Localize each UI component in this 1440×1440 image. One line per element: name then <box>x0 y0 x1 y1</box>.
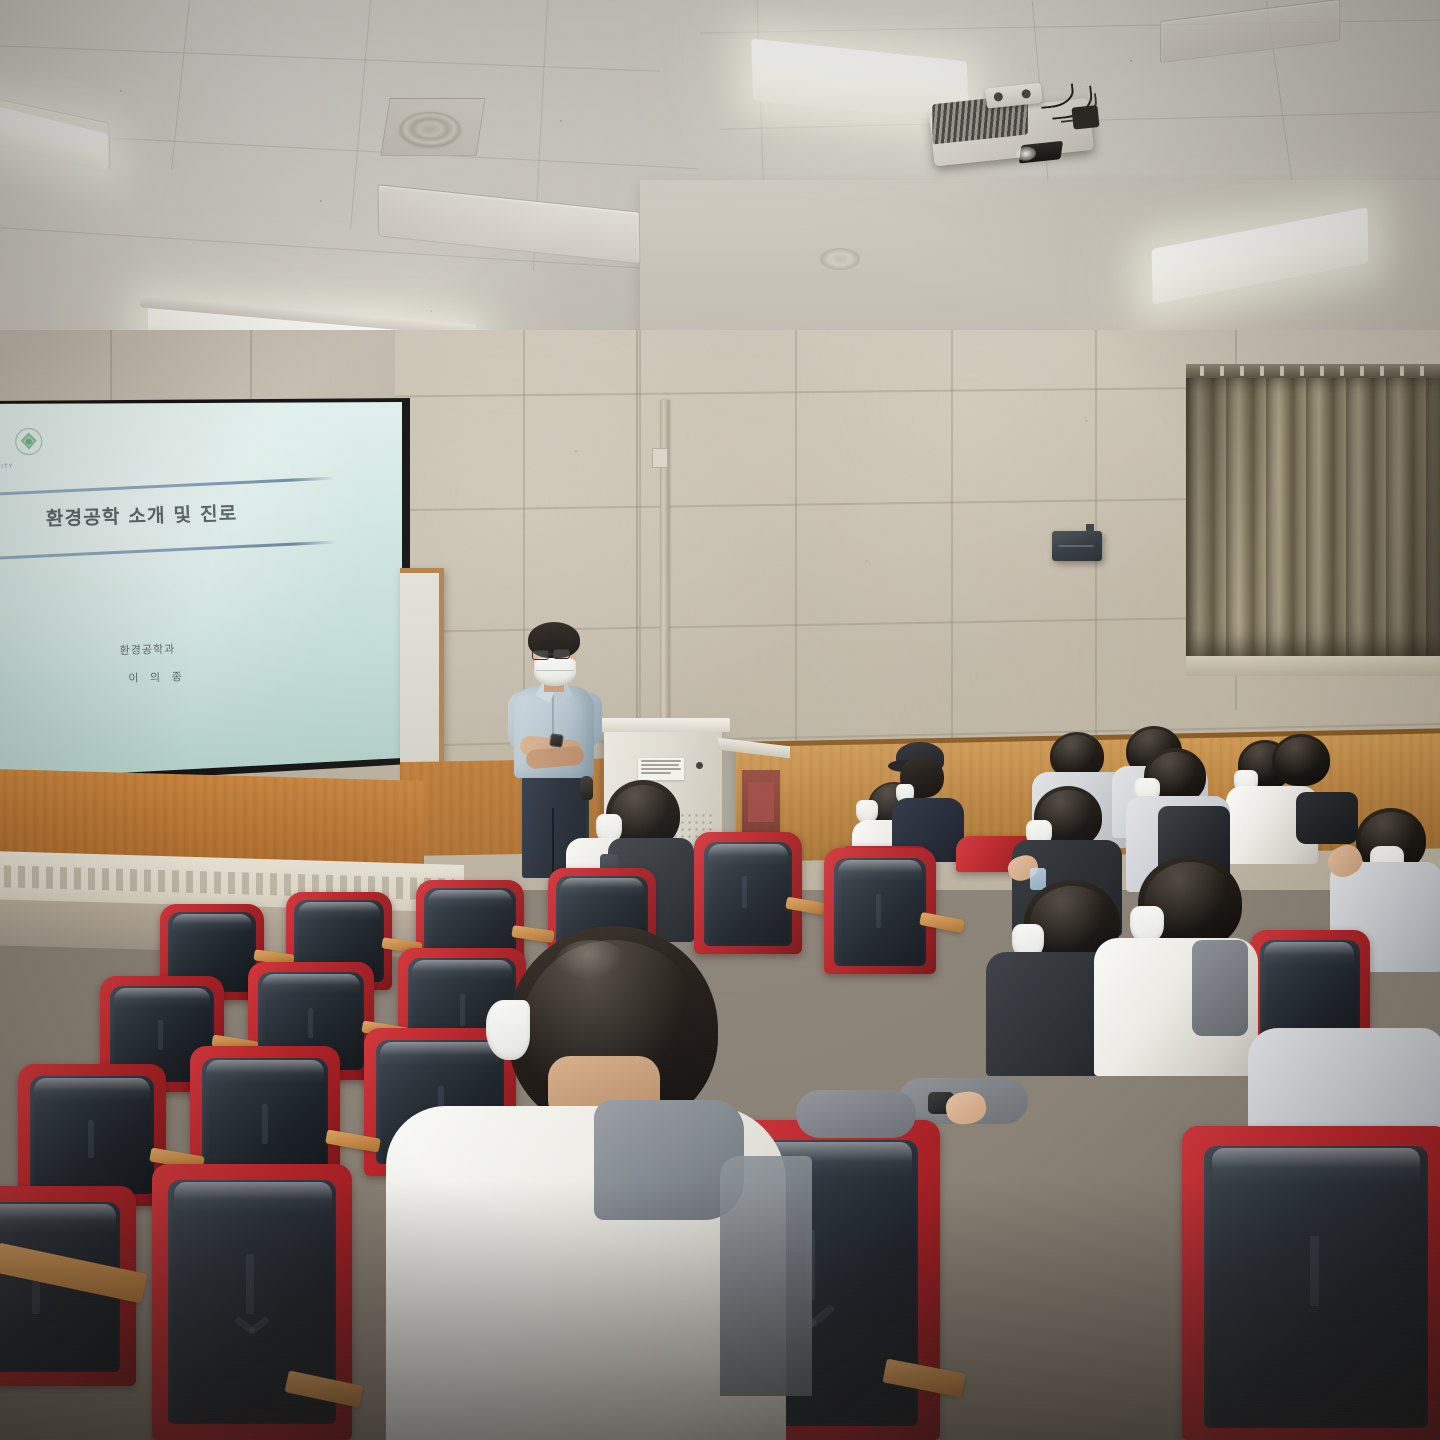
student-foreground-crown-sheen <box>556 940 626 982</box>
air-diffuser-icon <box>400 112 460 146</box>
student-foreground-vest-edge <box>720 1156 812 1396</box>
window-alcove <box>1186 364 1440 664</box>
podium-knob[interactable] <box>696 762 703 769</box>
backpack <box>1296 792 1358 844</box>
whiteboard <box>400 568 444 780</box>
chair-behind-podium-seat <box>748 782 774 822</box>
student-foreground-mask-strap <box>486 1000 530 1060</box>
presenter-glasses-left-lens <box>532 650 549 660</box>
wall-speaker-icon <box>1052 531 1102 561</box>
curtain[interactable] <box>1186 374 1440 659</box>
alcove-sill <box>1186 656 1440 676</box>
microphone-icon <box>580 776 593 800</box>
student-right-top-head <box>1272 734 1330 786</box>
curtain-rail <box>1186 364 1440 378</box>
podium-notice-label <box>638 758 684 780</box>
air-diffuser-secondary-icon <box>820 248 860 270</box>
seat-midrow-1[interactable] <box>694 832 802 954</box>
presenter-wristwatch <box>549 733 564 748</box>
water-bottle <box>1030 868 1046 890</box>
podium-top <box>598 718 730 732</box>
student-third-collar-trim <box>1192 940 1248 1036</box>
seat-midrow-2[interactable] <box>824 848 936 974</box>
presenter-face-mask <box>534 658 576 686</box>
seat-foreground-right[interactable] <box>1182 1126 1440 1440</box>
seated-leg-foreground <box>796 1090 916 1138</box>
conduit-junction-box <box>652 448 668 468</box>
seat-rowC-1[interactable] <box>18 1064 166 1206</box>
projection-screen: 학교 U UNIVERSITY 환경공학 소개 및 진로 환경공학과 이 의 종 <box>0 402 402 782</box>
presenter-glasses-right-lens <box>553 649 570 659</box>
lecture-hall-photo: 학교 U UNIVERSITY 환경공학 소개 및 진로 환경공학과 이 의 종 <box>0 0 1440 1440</box>
